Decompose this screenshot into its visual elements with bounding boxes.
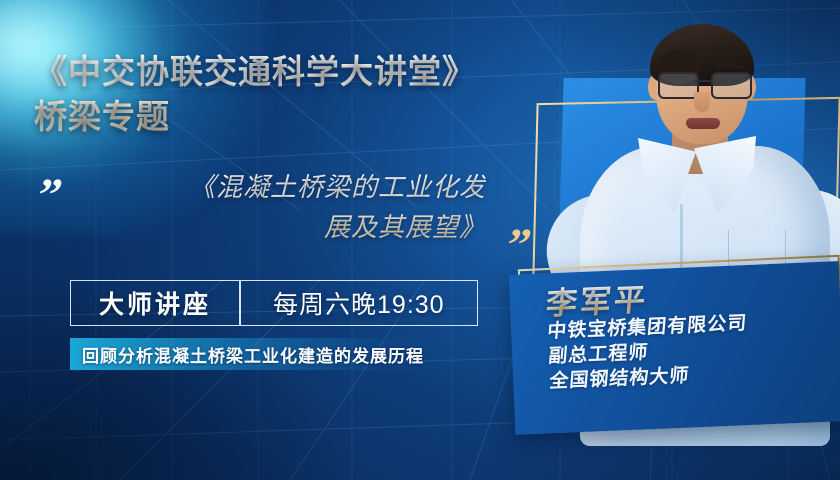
speaker-mouth [686, 118, 720, 129]
lecture-tag: 大师讲座 [71, 281, 239, 325]
topic-title-line1: 《混凝土桥梁的工业化发 [189, 172, 486, 202]
program-title: 《中交协联交通科学大讲堂》 桥梁专题 [34, 50, 554, 140]
quote-open-icon: ” [33, 172, 66, 218]
topic-title: 《混凝土桥梁的工业化发 展及其展望》 [86, 168, 486, 247]
program-title-line1: 《中交协联交通科学大讲堂》 [34, 53, 476, 90]
glasses-lens-right [711, 72, 752, 99]
program-title-line2: 桥梁专题 [34, 95, 554, 140]
glasses-bridge [695, 80, 711, 82]
topic-quote-block: ” 《混凝土桥梁的工业化发 展及其展望》 ” [38, 168, 518, 264]
topic-title-line2: 展及其展望》 [324, 212, 486, 242]
glasses-lens-left [658, 72, 699, 99]
subtitle-text: 回顾分析混凝土桥梁工业化建造的发展历程 [70, 342, 424, 367]
lecture-time: 每周六晚19:30 [241, 281, 477, 325]
subtitle-banner: 回顾分析混凝土桥梁工业化建造的发展历程 [70, 338, 476, 370]
speaker-nose [694, 92, 710, 112]
lecture-schedule-box: 大师讲座 每周六晚19:30 [70, 280, 478, 326]
poster-canvas: 李军平 中铁宝桥集团有限公司 副总工程师 全国钢结构大师 《中交协联交通科学大讲… [0, 0, 840, 480]
speaker-info-panel: 李军平 中铁宝桥集团有限公司 副总工程师 全国钢结构大师 [509, 261, 840, 435]
